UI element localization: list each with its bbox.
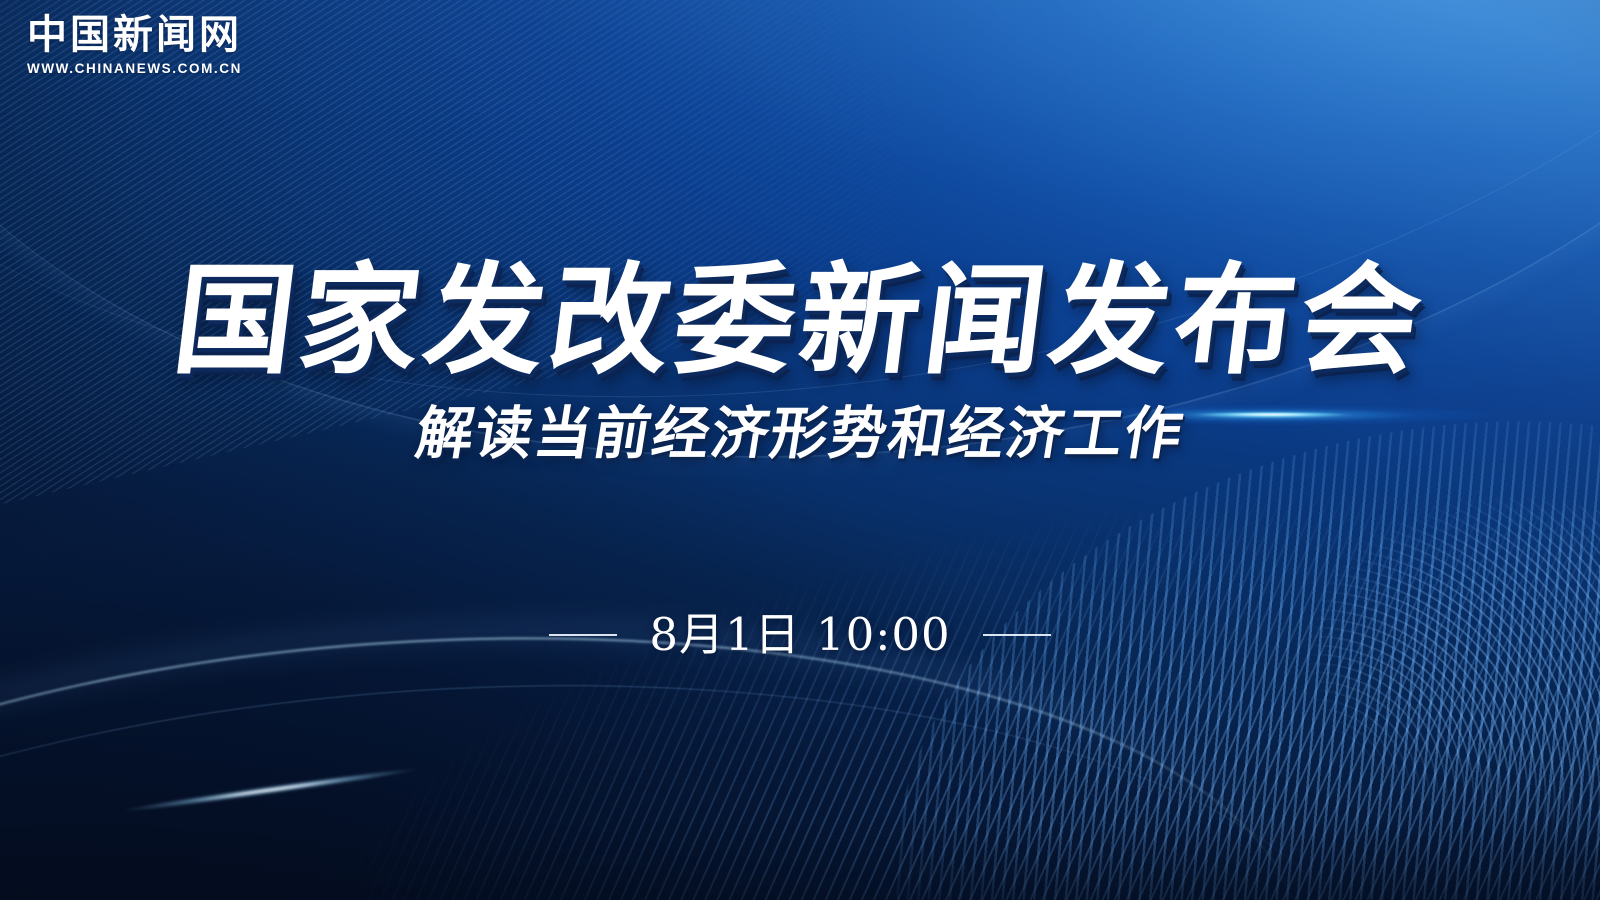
schedule-datetime: 8月1日 10:00: [649, 612, 950, 657]
headline-block: 国家发改委新闻发布会 解读当前经济形势和经济工作: [0, 262, 1600, 463]
press-conference-poster: 中国新闻网 WWW.CHINANEWS.COM.CN 国家发改委新闻发布会 解读…: [0, 0, 1600, 900]
chinanews-logo: 中国新闻网 WWW.CHINANEWS.COM.CN: [27, 14, 227, 76]
rule-left-decor: [549, 634, 617, 636]
logo-name-cn: 中国新闻网: [27, 14, 227, 56]
logo-website-url: WWW.CHINANEWS.COM.CN: [27, 61, 227, 76]
page-subtitle: 解读当前经济形势和经济工作: [0, 406, 1600, 463]
page-title: 国家发改委新闻发布会: [0, 262, 1600, 382]
rule-right-decor: [983, 634, 1051, 636]
schedule-row: 8月1日 10:00: [0, 612, 1600, 657]
